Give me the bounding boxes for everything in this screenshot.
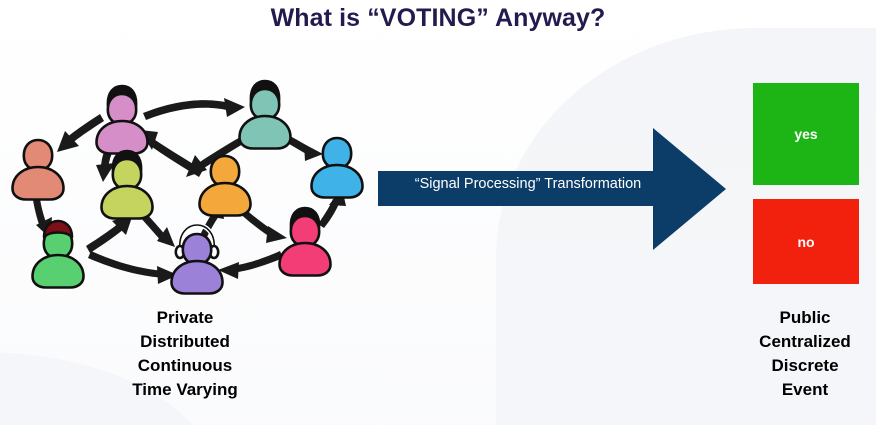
- result-label-yes: yes: [794, 126, 817, 142]
- right-caption-line-1: Public: [732, 306, 876, 330]
- left-caption-line-4: Time Varying: [60, 378, 310, 402]
- person-teal: [240, 81, 291, 149]
- person-salmon: [13, 140, 64, 200]
- person-orchid: [97, 86, 148, 154]
- result-label-no: no: [797, 234, 814, 250]
- slide-title: What is “VOTING” Anyway?: [0, 4, 876, 33]
- right-caption-line-3: Discrete: [732, 354, 876, 378]
- edge-pink-to-purple: [218, 251, 283, 279]
- arrow-label: “Signal Processing” Transformation: [378, 176, 678, 192]
- result-box-no: no: [753, 199, 859, 284]
- edge-orchid-to-teal: [143, 98, 245, 120]
- edge-green-to-purple: [88, 251, 178, 284]
- right-caption-line-4: Event: [732, 378, 876, 402]
- right-caption: Public Centralized Discrete Event: [732, 306, 876, 402]
- person-purple: [172, 225, 223, 294]
- left-caption-line-1: Private: [60, 306, 310, 330]
- people-network-diagram: [0, 66, 372, 302]
- left-caption: Private Distributed Continuous Time Vary…: [60, 306, 310, 402]
- slide-canvas: What is “VOTING” Anyway?: [0, 0, 876, 425]
- edge-green-to-lime: [86, 214, 133, 253]
- right-caption-line-2: Centralized: [732, 330, 876, 354]
- network-nodes: [13, 81, 363, 294]
- left-caption-line-3: Continuous: [60, 354, 310, 378]
- result-box-yes: yes: [753, 83, 859, 185]
- left-caption-line-2: Distributed: [60, 330, 310, 354]
- person-green: [33, 221, 84, 288]
- person-blue: [312, 138, 363, 198]
